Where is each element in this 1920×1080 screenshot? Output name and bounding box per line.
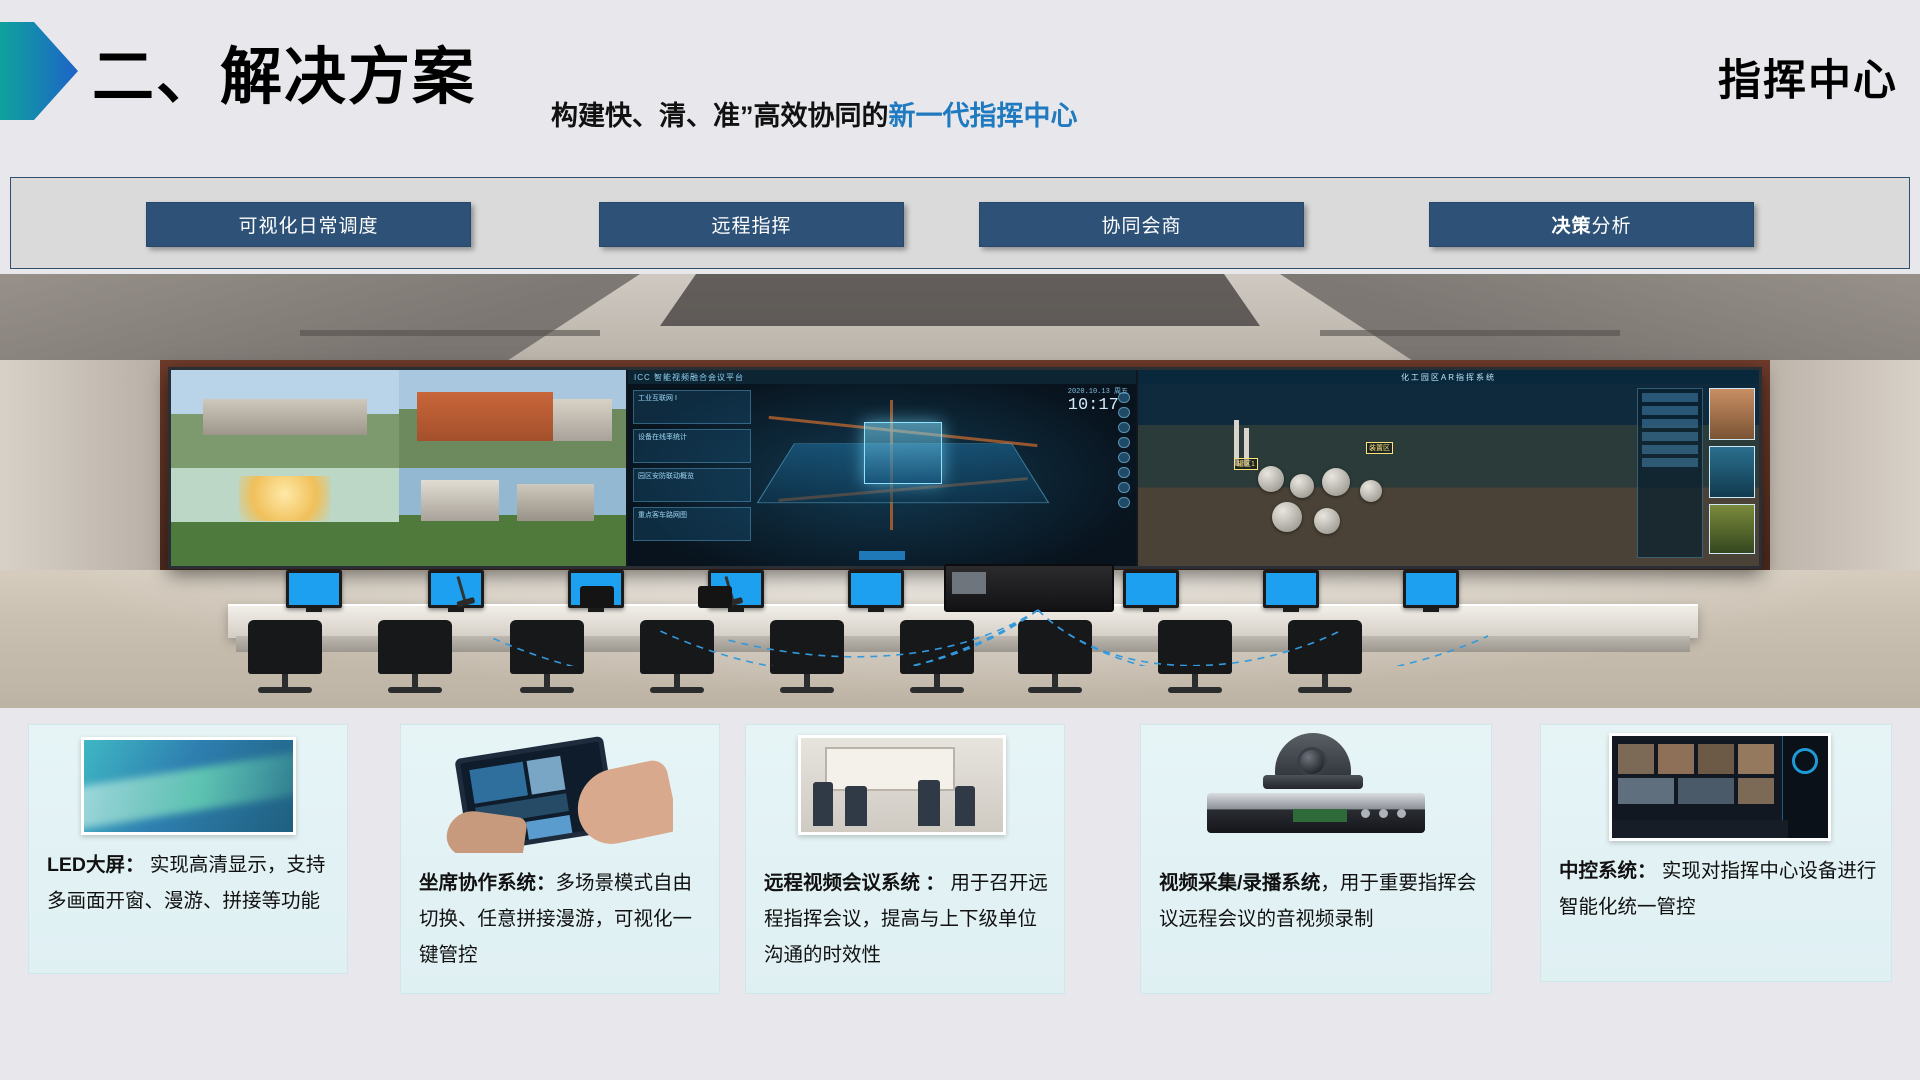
toolbar-button[interactable] bbox=[1118, 497, 1130, 508]
operator-chair bbox=[640, 620, 714, 674]
feature-card-seat-collaboration[interactable]: 坐席协作系统：多场景模式自由切换、任意拼接漫游，可视化一键管控 bbox=[400, 724, 720, 994]
person bbox=[845, 786, 867, 826]
operator-chair bbox=[900, 620, 974, 674]
ar-system-title: 化工园区AR指挥系统 bbox=[1138, 370, 1759, 384]
nav-button-label: 可视化日常调度 bbox=[238, 211, 378, 238]
nav-button-collaborative-consultation[interactable]: 协同会商 bbox=[979, 202, 1304, 247]
card-image-led-wall bbox=[81, 737, 296, 835]
dashboard-card: 重点客车路网图 bbox=[633, 507, 751, 541]
header-right-title: 指挥中心 bbox=[1718, 46, 1898, 108]
control-console bbox=[944, 564, 1114, 612]
storage-tank bbox=[1272, 502, 1302, 532]
ceiling-light-slot bbox=[300, 330, 600, 336]
camera-thumbnail bbox=[1709, 446, 1755, 498]
photo-tile bbox=[399, 468, 627, 566]
highlighted-building bbox=[864, 422, 942, 484]
toolbar-button[interactable] bbox=[1118, 392, 1130, 403]
feature-card-video-capture-recording[interactable]: 视频采集/录播系统，用于重要指挥会议远程会议的音视频录制 bbox=[1140, 724, 1492, 994]
panel-row bbox=[1642, 406, 1698, 415]
operator-monitor bbox=[1403, 570, 1459, 608]
desk-telephone bbox=[698, 586, 732, 608]
video-wall-pane-buildings bbox=[171, 370, 626, 566]
storage-tank bbox=[1258, 466, 1284, 492]
camera-thumbnail bbox=[1709, 504, 1755, 554]
video-wall-pane-gis-dashboard: ICC 智能视频融合会议平台 2020.10.13 周五 10:17 工业互联网… bbox=[626, 370, 1136, 566]
panel-row bbox=[1642, 432, 1698, 441]
recorder-knob bbox=[1361, 809, 1370, 818]
gauge-icon bbox=[1792, 748, 1818, 774]
operator-chair bbox=[378, 620, 452, 674]
ar-side-panel bbox=[1637, 388, 1703, 558]
dashboard-title: ICC 智能视频融合会议平台 bbox=[628, 370, 1136, 384]
subtitle-highlight: 新一代指挥中心 bbox=[889, 101, 1078, 131]
ar-tag: 罐区1 bbox=[1234, 458, 1258, 470]
card-image-meeting-room bbox=[798, 735, 1006, 835]
toolbar-button[interactable] bbox=[1118, 422, 1130, 433]
operator-desk-row bbox=[228, 570, 1698, 666]
photo-tile bbox=[171, 468, 399, 566]
ar-tag: 装置区 bbox=[1366, 442, 1393, 454]
led-video-wall: ICC 智能视频融合会议平台 2020.10.13 周五 10:17 工业互联网… bbox=[168, 367, 1762, 569]
nav-button-label-strong: 决策 bbox=[1551, 211, 1591, 238]
console-screen bbox=[952, 572, 986, 594]
storage-tank bbox=[1290, 474, 1314, 498]
storage-tank bbox=[1322, 468, 1350, 496]
operator-monitor bbox=[286, 570, 342, 608]
person bbox=[813, 782, 833, 826]
video-wall-pane-ar-refinery: 化工园区AR指挥系统 罐区1 装置区 bbox=[1136, 370, 1759, 566]
dashboard-card: 设备在线率统计 bbox=[633, 429, 751, 463]
operator-monitor bbox=[1263, 570, 1319, 608]
card-title: 中控系统： bbox=[1559, 860, 1657, 882]
nav-band: 可视化日常调度 远程指挥 协同会商 决策分析 bbox=[10, 177, 1910, 269]
nav-button-visual-dispatch[interactable]: 可视化日常调度 bbox=[146, 202, 471, 247]
toolbar-button[interactable] bbox=[1118, 452, 1130, 463]
photo-tile bbox=[399, 370, 627, 468]
dashboard-card-label: 设备在线率统计 bbox=[634, 430, 750, 444]
dashboard-card-label: 重点客车路网图 bbox=[634, 508, 750, 522]
card-title: LED大屏： bbox=[47, 854, 145, 876]
card-image-control-software bbox=[1609, 733, 1831, 841]
toolbar-button[interactable] bbox=[1118, 407, 1130, 418]
panel-row bbox=[1642, 419, 1698, 428]
feature-card-strip: LED大屏： 实现高清显示，支持多画面开窗、漫游、拼接等功能 坐席协作系统：多场… bbox=[0, 712, 1920, 1080]
operator-chair bbox=[770, 620, 844, 674]
chevron-right-icon bbox=[0, 22, 78, 120]
dashboard-card-label: 园区安防联动概览 bbox=[634, 469, 750, 483]
page-title: 二、解决方案 bbox=[92, 26, 476, 116]
desk-telephone bbox=[580, 586, 614, 608]
nav-button-decision-analysis[interactable]: 决策分析 bbox=[1429, 202, 1754, 247]
recorder-knob bbox=[1397, 809, 1406, 818]
side-wall-right bbox=[1770, 360, 1920, 572]
recorder-chassis bbox=[1207, 793, 1425, 833]
nav-button-label-rest: 分析 bbox=[1592, 211, 1632, 238]
person bbox=[955, 786, 975, 826]
photo-tile bbox=[171, 370, 399, 468]
toolbar-button[interactable] bbox=[1118, 467, 1130, 478]
feature-card-remote-video-conference[interactable]: 远程视频会议系统 ： 用于召开远程指挥会议，提高与上下级单位沟通的时效性 bbox=[745, 724, 1065, 994]
recorder-display bbox=[1293, 809, 1347, 822]
camera-mount bbox=[1263, 775, 1363, 789]
operator-chair bbox=[1018, 620, 1092, 674]
slide-subtitle: 构建快、清、准”高效协同的新一代指挥中心 bbox=[551, 94, 1078, 133]
card-image-camera-recorder bbox=[1201, 731, 1431, 847]
panel-row bbox=[1642, 445, 1698, 454]
nav-button-label: 协同会商 bbox=[1101, 211, 1181, 238]
slide-header: 二、解决方案 构建快、清、准”高效协同的新一代指挥中心 指挥中心 bbox=[0, 0, 1920, 168]
operator-monitor bbox=[1123, 570, 1179, 608]
dashboard-card: 园区安防联动概览 bbox=[633, 468, 751, 502]
card-text: 坐席协作系统：多场景模式自由切换、任意拼接漫游，可视化一键管控 bbox=[419, 865, 709, 973]
feature-card-central-control[interactable]: 中控系统： 实现对指挥中心设备进行智能化统一管控 bbox=[1540, 724, 1892, 982]
side-wall-left bbox=[0, 360, 160, 572]
storage-tank bbox=[1314, 508, 1340, 534]
dashboard-card: 工业互联网 I bbox=[633, 390, 751, 424]
card-text: 中控系统： 实现对指挥中心设备进行智能化统一管控 bbox=[1559, 853, 1881, 925]
toolbar-button[interactable] bbox=[1118, 437, 1130, 448]
operator-chair bbox=[248, 620, 322, 674]
card-title: 坐席协作系统： bbox=[419, 872, 556, 894]
card-text: LED大屏： 实现高清显示，支持多画面开窗、漫游、拼接等功能 bbox=[47, 847, 337, 919]
subtitle-plain: 构建快、清、准”高效协同的 bbox=[551, 101, 889, 131]
dashboard-right-toolbar[interactable] bbox=[1118, 392, 1130, 512]
camera-thumbnail bbox=[1709, 388, 1755, 440]
card-text: 远程视频会议系统 ： 用于召开远程指挥会议，提高与上下级单位沟通的时效性 bbox=[764, 865, 1054, 973]
operator-monitor bbox=[848, 570, 904, 608]
command-center-photo: ICC 智能视频融合会议平台 2020.10.13 周五 10:17 工业互联网… bbox=[0, 274, 1920, 708]
panel-row bbox=[1642, 393, 1698, 402]
dashboard-card-label: 工业互联网 I bbox=[634, 391, 750, 405]
nav-button-label: 远程指挥 bbox=[711, 211, 791, 238]
toolbar-button[interactable] bbox=[1118, 482, 1130, 493]
card-text: 视频采集/录播系统，用于重要指挥会议远程会议的音视频录制 bbox=[1159, 865, 1481, 937]
software-toolbar bbox=[1612, 820, 1788, 838]
dashboard-footer-button[interactable] bbox=[859, 551, 905, 560]
dashboard-left-column: 工业互联网 I 设备在线率统计 园区安防联动概览 重点客车路网图 bbox=[633, 390, 751, 546]
recorder-knob bbox=[1379, 809, 1388, 818]
operator-chair bbox=[1158, 620, 1232, 674]
card-title: 远程视频会议系统 ： bbox=[764, 872, 945, 894]
nav-button-row: 可视化日常调度 远程指挥 协同会商 决策分析 bbox=[11, 178, 1909, 268]
camera-lens-icon bbox=[1297, 747, 1327, 777]
ceiling-panel-center bbox=[660, 274, 1260, 326]
card-title: 视频采集/录播系统 bbox=[1159, 872, 1320, 894]
card-image-tablet bbox=[443, 733, 673, 853]
feature-card-led-screen[interactable]: LED大屏： 实现高清显示，支持多画面开窗、漫游、拼接等功能 bbox=[28, 724, 348, 974]
panel-row bbox=[1642, 458, 1698, 467]
person bbox=[918, 780, 940, 826]
nav-button-remote-command[interactable]: 远程指挥 bbox=[599, 202, 904, 247]
dashboard-time: 10:17 bbox=[1068, 396, 1119, 415]
operator-chair bbox=[1288, 620, 1362, 674]
ceiling-light-slot bbox=[1320, 330, 1620, 336]
operator-chair bbox=[510, 620, 584, 674]
storage-tank bbox=[1360, 480, 1382, 502]
